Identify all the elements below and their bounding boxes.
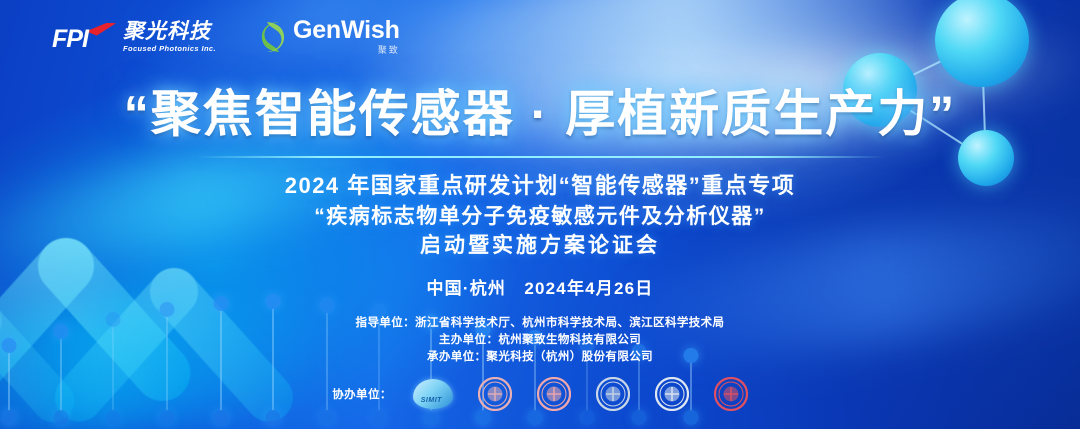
fpi-english-name: Focused Photonics Inc. (123, 45, 216, 53)
university-seal-1 (478, 377, 512, 411)
fpi-mark-icon: FPI (52, 22, 114, 52)
location-date: 中国·杭州 2024年4月26日 (0, 274, 1080, 299)
organizer-line-organizer: 承办单位：聚光科技（杭州）股份有限公司 (0, 349, 1080, 366)
organizer-line-host: 主办单位：杭州聚致生物科技有限公司 (0, 332, 1080, 349)
organizer-block: 指导单位：浙江省科学技术厅、杭州市科学技术局、滨江区科学技术局 主办单位：杭州聚… (0, 315, 1080, 366)
seal-emblem-icon (714, 377, 748, 411)
subtitle-program: 2024 年国家重点研发计划“智能传感器”重点专项 (0, 168, 1080, 200)
genwish-leaf-icon (260, 20, 286, 54)
genwish-wordmark: GenWish 聚致 (293, 18, 400, 55)
institute-seal-5 (714, 377, 748, 411)
fpi-swoosh-icon (86, 23, 116, 36)
header-logos: FPI 聚光科技 Focused Photonics Inc. GenWish … (52, 18, 400, 55)
seal-emblem-icon (537, 377, 571, 411)
genwish-logo: GenWish 聚致 (260, 18, 400, 55)
coorganizer-label: 协办单位： (332, 386, 392, 402)
subtitle-event: 启动暨实施方案论证会 (0, 229, 1080, 259)
seal-emblem-icon (655, 377, 689, 411)
fpi-logo: FPI 聚光科技 Focused Photonics Inc. (52, 21, 216, 53)
organizer-line-guidance: 指导单位：浙江省科学技术厅、杭州市科学技术局、滨江区科学技术局 (0, 315, 1080, 332)
genwish-english-name: GenWish (293, 18, 400, 43)
genwish-chinese-name: 聚致 (378, 46, 400, 55)
institute-seal-3 (596, 377, 630, 411)
molecule-node (935, 0, 1029, 87)
institute-seal-4 (655, 377, 689, 411)
fpi-letters: FPI (52, 27, 88, 52)
seal-emblem-icon (478, 377, 512, 411)
seal-text: SIMIT (421, 397, 442, 404)
university-seal-2 (537, 377, 571, 411)
fpi-chinese-name: 聚光科技 (123, 21, 216, 42)
simit-seal: SIMIT (413, 379, 453, 409)
seal-emblem-icon (596, 377, 630, 411)
conference-banner: FPI 聚光科技 Focused Photonics Inc. GenWish … (0, 0, 1080, 429)
main-title: “聚焦智能传感器 · 厚植新质生产力” (0, 86, 1080, 142)
coorganizer-row: 协办单位： SIMIT (0, 377, 1080, 411)
title-divider (196, 156, 884, 158)
fpi-wordmark: 聚光科技 Focused Photonics Inc. (123, 21, 216, 53)
subtitle-project: “疾病标志物单分子免疫敏感元件及分析仪器” (0, 200, 1080, 230)
